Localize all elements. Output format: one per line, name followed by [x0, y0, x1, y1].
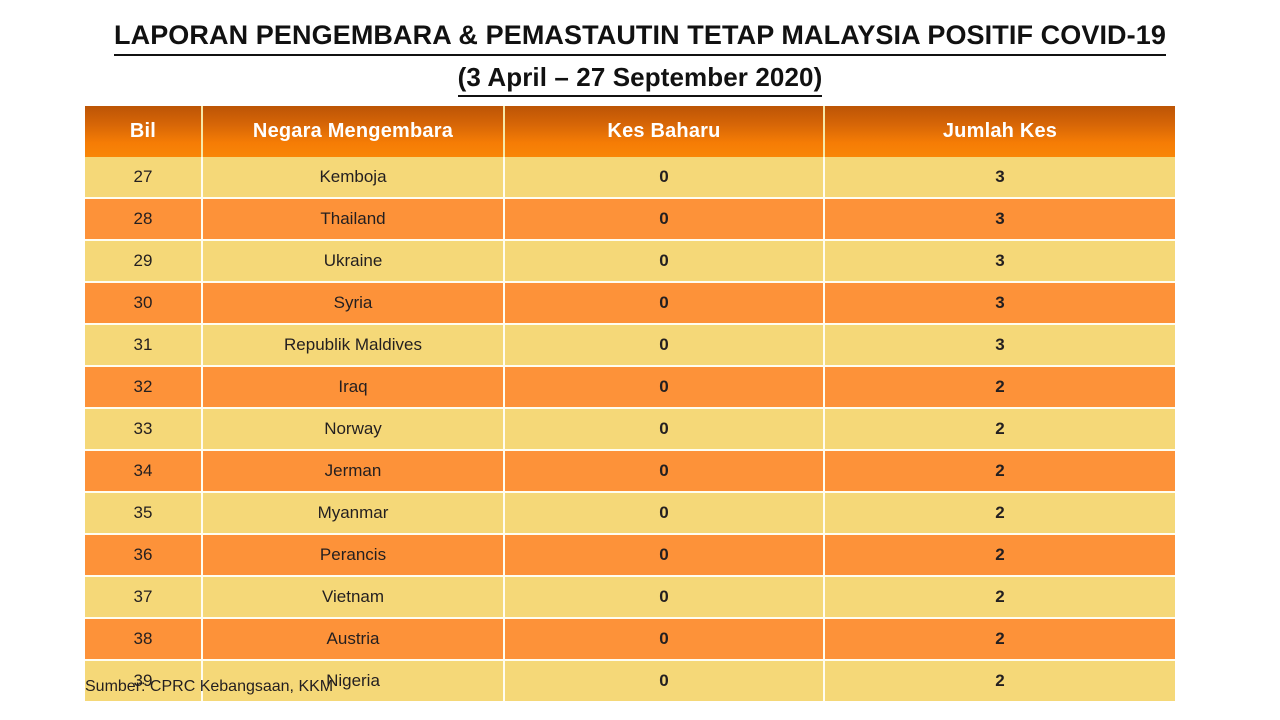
table-row: 37Vietnam02 [85, 577, 1175, 619]
cell-bil: 27 [85, 157, 203, 199]
column-header-jumlah: Jumlah Kes [825, 106, 1175, 157]
cell-negara: Vietnam [203, 577, 505, 619]
cell-bil: 28 [85, 199, 203, 241]
cell-bil: 34 [85, 451, 203, 493]
cell-jumlah-kes: 2 [825, 535, 1175, 577]
slide-root: LAPORAN PENGEMBARA & PEMASTAUTIN TETAP M… [0, 0, 1280, 720]
page-title: LAPORAN PENGEMBARA & PEMASTAUTIN TETAP M… [0, 18, 1280, 97]
cell-negara: Jerman [203, 451, 505, 493]
cell-bil: 35 [85, 493, 203, 535]
cell-jumlah-kes: 2 [825, 619, 1175, 661]
cell-jumlah-kes: 3 [825, 325, 1175, 367]
report-table: Bil Negara Mengembara Kes Baharu Jumlah … [85, 106, 1175, 701]
cell-negara: Kemboja [203, 157, 505, 199]
cell-jumlah-kes: 3 [825, 283, 1175, 325]
cell-jumlah-kes: 3 [825, 241, 1175, 283]
cell-kes-baharu: 0 [505, 367, 825, 409]
table-row: 29Ukraine03 [85, 241, 1175, 283]
cell-kes-baharu: 0 [505, 199, 825, 241]
cell-negara: Republik Maldives [203, 325, 505, 367]
table-body: 27Kemboja0328Thailand0329Ukraine0330Syri… [85, 157, 1175, 701]
cell-kes-baharu: 0 [505, 409, 825, 451]
column-header-bil: Bil [85, 106, 203, 157]
cell-kes-baharu: 0 [505, 325, 825, 367]
cell-kes-baharu: 0 [505, 157, 825, 199]
cell-negara: Perancis [203, 535, 505, 577]
cell-negara: Iraq [203, 367, 505, 409]
table-row: 38Austria02 [85, 619, 1175, 661]
cell-negara: Myanmar [203, 493, 505, 535]
title-line-2: (3 April – 27 September 2020) [458, 61, 823, 97]
cell-bil: 33 [85, 409, 203, 451]
cell-bil: 32 [85, 367, 203, 409]
cell-kes-baharu: 0 [505, 451, 825, 493]
table-row: 32Iraq02 [85, 367, 1175, 409]
cell-jumlah-kes: 2 [825, 367, 1175, 409]
cell-jumlah-kes: 2 [825, 409, 1175, 451]
table-row: 27Kemboja03 [85, 157, 1175, 199]
table-row: 30Syria03 [85, 283, 1175, 325]
cell-jumlah-kes: 3 [825, 157, 1175, 199]
column-header-negara: Negara Mengembara [203, 106, 505, 157]
cell-kes-baharu: 0 [505, 493, 825, 535]
cell-kes-baharu: 0 [505, 577, 825, 619]
table-header: Bil Negara Mengembara Kes Baharu Jumlah … [85, 106, 1175, 157]
title-line-1: LAPORAN PENGEMBARA & PEMASTAUTIN TETAP M… [114, 18, 1166, 56]
cell-bil: 31 [85, 325, 203, 367]
cell-jumlah-kes: 2 [825, 577, 1175, 619]
cell-kes-baharu: 0 [505, 619, 825, 661]
column-header-baharu: Kes Baharu [505, 106, 825, 157]
cell-negara: Syria [203, 283, 505, 325]
cell-kes-baharu: 0 [505, 283, 825, 325]
cell-jumlah-kes: 2 [825, 451, 1175, 493]
cell-negara: Ukraine [203, 241, 505, 283]
cell-bil: 36 [85, 535, 203, 577]
cell-jumlah-kes: 2 [825, 661, 1175, 701]
table-row: 34Jerman02 [85, 451, 1175, 493]
source-note: Sumber: CPRC Kebangsaan, KKM [85, 678, 333, 696]
cell-bil: 38 [85, 619, 203, 661]
table-row: 36Perancis02 [85, 535, 1175, 577]
cell-jumlah-kes: 2 [825, 493, 1175, 535]
cell-bil: 37 [85, 577, 203, 619]
cell-kes-baharu: 0 [505, 661, 825, 701]
cell-negara: Thailand [203, 199, 505, 241]
report-table-container: Bil Negara Mengembara Kes Baharu Jumlah … [85, 106, 1175, 701]
cell-jumlah-kes: 3 [825, 199, 1175, 241]
cell-bil: 29 [85, 241, 203, 283]
table-row: 35Myanmar02 [85, 493, 1175, 535]
cell-negara: Austria [203, 619, 505, 661]
table-header-row: Bil Negara Mengembara Kes Baharu Jumlah … [85, 106, 1175, 157]
table-row: 33Norway02 [85, 409, 1175, 451]
table-row: 28Thailand03 [85, 199, 1175, 241]
cell-kes-baharu: 0 [505, 241, 825, 283]
table-row: 31Republik Maldives03 [85, 325, 1175, 367]
cell-bil: 30 [85, 283, 203, 325]
cell-negara: Norway [203, 409, 505, 451]
cell-kes-baharu: 0 [505, 535, 825, 577]
